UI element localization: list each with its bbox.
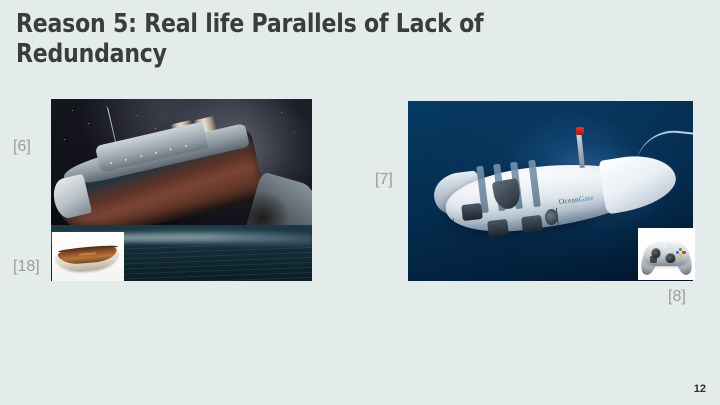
sub-equipment-pod xyxy=(487,219,509,237)
citation-submersible: [7] xyxy=(375,171,393,189)
sub-equipment-pod xyxy=(461,202,483,220)
controller-face-button xyxy=(676,251,679,254)
lifeboat-photo xyxy=(52,232,124,281)
slide-number: 12 xyxy=(694,383,706,395)
citation-lifeboat: [18] xyxy=(13,258,40,276)
oceangate-logo-accent: Gate xyxy=(578,193,594,204)
citation-controller: [8] xyxy=(668,288,686,306)
page-title: Reason 5: Real life Parallels of Lack of… xyxy=(16,10,573,69)
citation-titanic: [6] xyxy=(13,138,31,156)
sub-thruster xyxy=(545,209,558,225)
slide-canvas: Reason 5: Real life Parallels of Lack of… xyxy=(0,0,720,405)
controller-right-stick xyxy=(665,253,676,264)
game-controller-photo xyxy=(638,228,695,280)
beacon-light xyxy=(576,127,585,135)
sub-equipment-pod xyxy=(521,215,543,233)
controller-home-button xyxy=(664,245,669,250)
controller-dpad xyxy=(650,256,657,263)
controller-face-button xyxy=(682,251,685,254)
oceangate-logo-text: Ocean xyxy=(558,195,579,206)
